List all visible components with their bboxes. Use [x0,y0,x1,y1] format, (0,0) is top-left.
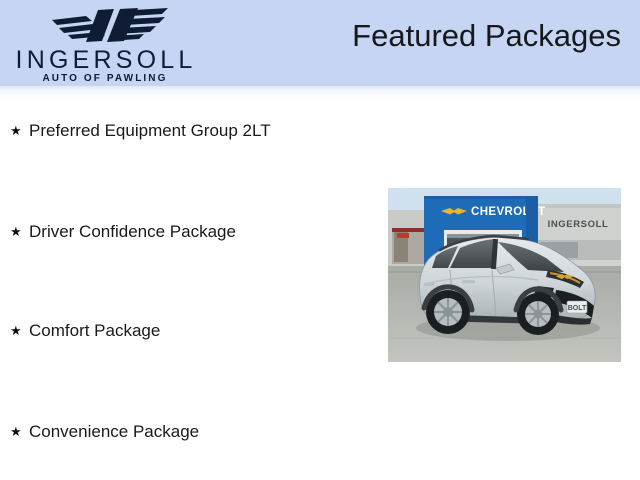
list-item-label: Convenience Package [29,423,199,440]
vehicle-photo-image: INGERSOLL CHEVROLET [388,188,621,362]
list-item: ★ Preferred Equipment Group 2LT [10,118,271,142]
svg-text:INGERSOLL: INGERSOLL [548,219,609,230]
vehicle-photo: INGERSOLL CHEVROLET [388,188,621,362]
list-item-label: Driver Confidence Package [29,223,236,240]
star-bullet-icon: ★ [10,324,29,337]
page-title: Featured Packages [352,18,621,54]
logo-tagline: AUTO OF PAWLING [0,74,208,84]
star-bullet-icon: ★ [10,124,29,137]
list-item: ★ Driver Confidence Package [10,219,236,243]
brand-logo: INGERSOLL AUTO OF PAWLING [0,4,208,84]
star-bullet-icon: ★ [10,225,29,238]
logo-wordmark: INGERSOLL [0,48,208,73]
star-bullet-icon: ★ [10,425,29,438]
list-item-label: Preferred Equipment Group 2LT [29,122,271,139]
svg-text:BOLT: BOLT [568,305,587,312]
list-item-label: Comfort Package [29,322,160,339]
header-gradient-fade [0,86,640,98]
list-item: ★ Convenience Package [10,419,199,443]
list-item: ★ Comfort Package [10,318,160,342]
ingersoll-winged-monogram-icon [46,6,172,44]
